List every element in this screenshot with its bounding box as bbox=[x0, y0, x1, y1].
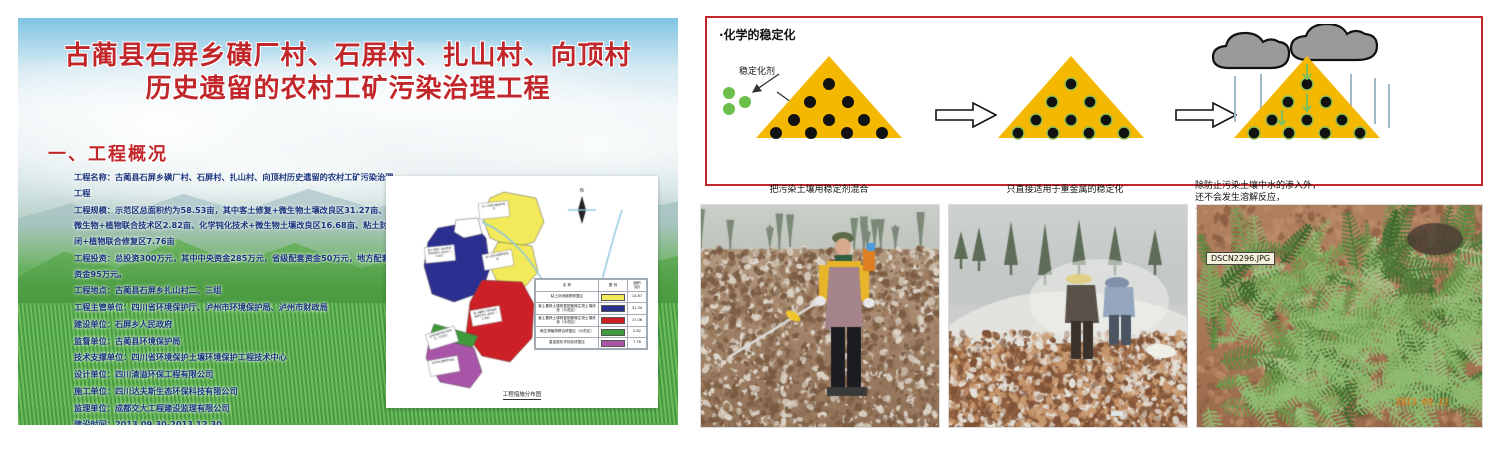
legend-header-row: 名 称图 例面积（亩） bbox=[536, 280, 647, 292]
info-label: 工程投资： bbox=[74, 253, 115, 263]
info-row: 设计单位：四川清溢环保工程有限公司 bbox=[74, 367, 394, 383]
info-row: 监理单位：成都交大工程建设监理有限公司 bbox=[74, 401, 394, 417]
legend-area: 17.06 bbox=[627, 315, 646, 327]
legend-swatch bbox=[598, 292, 627, 303]
legend-swatch bbox=[598, 315, 627, 327]
info-row: 工程地点：古蔺县石屏乡扎山村二、三组 bbox=[74, 283, 394, 299]
photo-worker-spraying bbox=[700, 204, 940, 428]
diagram-stage-3: 除防止污染土壤中水的渗入外， 还不会发生溶解反应， 也不会发生重金属涌出或者污染… bbox=[1207, 54, 1407, 140]
legend-row: 客土置换土壤修复配套微生物土壤改良（示范区）31.34 bbox=[536, 303, 647, 315]
info-value: 石屏乡人民政府 bbox=[115, 319, 172, 329]
info-value: 示范区总面积约为58.53亩，其中客土修复+微生物土壤改良区31.27亩、微生物… bbox=[74, 205, 388, 247]
legend-name: 客土置换土壤修复配套微生物土壤改良（示范区） bbox=[536, 315, 599, 327]
info-value: 四川省环境保护土壤环境保护工程技术中心 bbox=[131, 352, 287, 362]
info-label: 监理单位： bbox=[74, 403, 115, 413]
chemical-stabilization-diagram: ·化学的稳定化 稳定化剂 bbox=[705, 16, 1483, 186]
legend-row: 粘土封闭植物修复区14.87 bbox=[536, 292, 647, 303]
legend-table: 名 称图 例面积（亩）粘土封闭植物修复区14.87客土置换土壤修复配套微生物土壤… bbox=[535, 279, 647, 349]
title-line-2: 历史遗留的农村工矿污染治理工程 bbox=[18, 73, 678, 106]
info-value: 古蔺县石屏乡磺厂村、石屏村、扎山村、向顶村历史遗留的农村工矿污染治理工程 bbox=[74, 172, 393, 198]
info-label: 工程规模： bbox=[74, 205, 115, 215]
info-row: 监督单位：古蔺县环境保护局 bbox=[74, 334, 394, 350]
info-label: 工程地点： bbox=[74, 285, 115, 295]
stage2-triangle-wrap bbox=[996, 54, 1146, 140]
info-value: 总投资300万元，其中中央资金285万元，省级配套资金50万元，地方配套资金95… bbox=[74, 253, 390, 279]
stage3-caption-line2: 还不会发生溶解反应， bbox=[1195, 192, 1425, 204]
map-caption-text: 工程措施分布图 bbox=[503, 392, 542, 400]
map-caption: 工程措施分布图 bbox=[386, 390, 658, 398]
legend-name: 客土置换土壤修复配套微生物土壤改良（示范区） bbox=[536, 303, 599, 315]
info-row: 建设单位：石屏乡人民政府 bbox=[74, 317, 394, 333]
info-row: 建设时间：2013.09.30-2013.12.30 bbox=[74, 417, 394, 425]
info-value: 古蔺县环境保护局 bbox=[115, 336, 181, 346]
project-overview-poster: 古蔺县石屏乡磺厂村、石屏村、扎山村、向顶村 历史遗留的农村工矿污染治理工程 一、… bbox=[18, 18, 678, 425]
diagram-title: ·化学的稳定化 bbox=[719, 26, 796, 43]
title-line-1: 古蔺县石屏乡磺厂村、石屏村、扎山村、向顶村 bbox=[64, 41, 631, 71]
legend-area: 31.34 bbox=[627, 303, 646, 315]
legend-name: 微生物植物联合修复区（示范区） bbox=[536, 327, 599, 338]
legend-header-cell: 图 例 bbox=[598, 280, 627, 292]
info-label: 监督单位： bbox=[74, 336, 115, 346]
info-value: 2013.09.30-2013.12.30 bbox=[115, 419, 222, 425]
legend-swatch bbox=[598, 303, 627, 315]
info-value: 四川清溢环保工程有限公司 bbox=[115, 369, 213, 379]
legend-name: 重金属化学钝化修复区 bbox=[536, 338, 599, 349]
page-title: 古蔺县石屏乡磺厂村、石屏村、扎山村、向顶村 历史遗留的农村工矿污染治理工程 bbox=[18, 40, 678, 107]
info-value: 四川达夫斯生态环保科技有限公司 bbox=[115, 386, 238, 396]
photo2-canvas bbox=[949, 205, 1187, 427]
stabilized-soil-triangle-icon bbox=[996, 54, 1146, 140]
info-label: 施工单位： bbox=[74, 386, 115, 396]
stage1-triangle-wrap bbox=[754, 54, 904, 140]
info-row: 工程规模：示范区总面积约为58.53亩，其中客土修复+微生物土壤改良区31.27… bbox=[74, 203, 394, 250]
legend-row: 微生物植物联合修复区（示范区）2.82 bbox=[536, 327, 647, 338]
stage3-caption-line1: 除防止污染土壤中水的渗入外， bbox=[1195, 180, 1425, 192]
info-row: 工程主管单位：四川省环境保护厅、泸州市环境保护局、泸州市财政局 bbox=[74, 300, 394, 316]
project-info-list: 工程名称：古蔺县石屏乡磺厂村、石屏村、扎山村、向顶村历史遗留的农村工矿污染治理工… bbox=[74, 170, 394, 425]
info-row: 技术支撑单位：四川省环境保护土壤环境保护工程技术中心 bbox=[74, 350, 394, 366]
info-label: 设计单位： bbox=[74, 369, 115, 379]
info-value: 四川省环境保护厅、泸州市环境保护局、泸州市财政局 bbox=[131, 302, 328, 312]
info-label: 技术支撑单位： bbox=[74, 352, 131, 362]
info-row: 工程名称：古蔺县石屏乡磺厂村、石屏村、扎山村、向顶村历史遗留的农村工矿污染治理工… bbox=[74, 170, 394, 202]
info-value: 成都交大工程建设监理有限公司 bbox=[115, 403, 230, 413]
info-label: 工程名称： bbox=[74, 172, 115, 182]
section-heading: 一、工程概况 bbox=[48, 140, 168, 166]
project-measures-map: 名 称图 例面积（亩）粘土封闭植物修复区14.87客土置换土壤修复配套微生物土壤… bbox=[386, 176, 658, 408]
info-row: 施工单位：四川达夫斯生态环保科技有限公司 bbox=[74, 384, 394, 400]
legend-row: 客土置换土壤修复配套微生物土壤改良（示范区）17.06 bbox=[536, 315, 647, 327]
legend-name: 粘土封闭植物修复区 bbox=[536, 292, 599, 303]
stage2-caption: 只直接适用于重金属的稳定化 bbox=[965, 182, 1165, 195]
legend-area: 2.82 bbox=[627, 327, 646, 338]
stage3-triangle-wrap bbox=[1232, 54, 1382, 140]
diagram-stage-1: 把污染土壤用稳定剂混合 bbox=[729, 54, 929, 140]
info-value: 古蔺县石屏乡扎山村二、三组 bbox=[115, 285, 221, 295]
map-legend: 名 称图 例面积（亩）粘土封闭植物修复区14.87客土置换土壤修复配套微生物土壤… bbox=[534, 278, 648, 350]
stage1-caption: 把污染土壤用稳定剂混合 bbox=[719, 182, 919, 195]
diagram-stage-2: 只直接适用于重金属的稳定化 bbox=[971, 54, 1171, 140]
legend-row: 重金属化学钝化修复区7.76 bbox=[536, 338, 647, 349]
photo-fern-vegetation bbox=[1196, 204, 1483, 428]
legend-area: 7.76 bbox=[627, 338, 646, 349]
soil-triangle-icon bbox=[754, 54, 904, 140]
photo3-canvas bbox=[1197, 205, 1482, 427]
info-row: 工程投资：总投资300万元，其中中央资金285万元，省级配套资金50万元，地方配… bbox=[74, 251, 394, 283]
info-label: 建设单位： bbox=[74, 319, 115, 329]
rained-soil-triangle-icon bbox=[1232, 54, 1382, 140]
legend-area: 14.87 bbox=[627, 292, 646, 303]
legend-header-cell: 面积（亩） bbox=[627, 280, 646, 292]
photo3-filename-label: DSCN2296.JPG bbox=[1206, 252, 1275, 265]
legend-header-cell: 名 称 bbox=[536, 280, 599, 292]
screenshot-root: 古蔺县石屏乡磺厂村、石屏村、扎山村、向顶村 历史遗留的农村工矿污染治理工程 一、… bbox=[0, 0, 1500, 449]
legend-swatch bbox=[598, 338, 627, 349]
info-label: 建设时间： bbox=[74, 419, 115, 425]
info-label: 工程主管单位： bbox=[74, 302, 131, 312]
photo-workers-spreading bbox=[948, 204, 1188, 428]
legend-swatch bbox=[598, 327, 627, 338]
photo1-canvas bbox=[701, 205, 939, 427]
